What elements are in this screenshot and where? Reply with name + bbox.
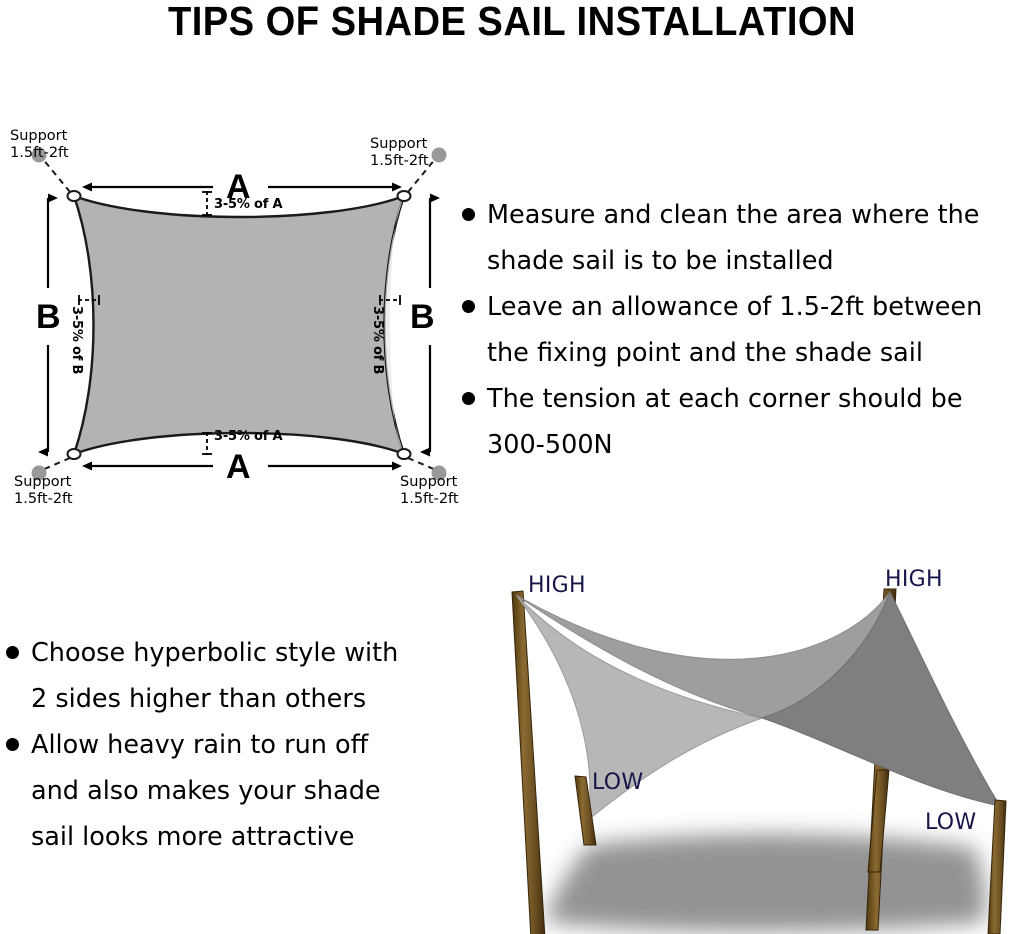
label-low-front-right: LOW xyxy=(925,810,976,835)
curve-note-left: 3-5% of B xyxy=(69,306,84,374)
bullet-spacer xyxy=(462,254,475,267)
support-label-bottom-left: Support 1.5ft-2ft xyxy=(14,474,73,508)
list-item-line: The tension at each corner should be xyxy=(487,376,1024,422)
support-label-top-left: Support 1.5ft-2ft xyxy=(10,128,69,162)
installation-tips-upper-list: Measure and clean the area where the sha… xyxy=(462,192,1024,468)
pole-front-right-low xyxy=(988,800,1006,934)
support-label-bottom-right: Support 1.5ft-2ft xyxy=(400,474,459,508)
list-item-line: shade sail is to be installed xyxy=(487,238,1024,284)
pole-back-left-high xyxy=(512,591,545,934)
list-item-line: 2 sides higher than others xyxy=(31,676,446,722)
list-item: Measure and clean the area where the xyxy=(462,192,1024,238)
list-item-line: sail looks more attractive xyxy=(31,814,446,860)
list-item-line: 300-500N xyxy=(487,422,1024,468)
dimension-label-a-bottom: A xyxy=(226,450,251,484)
sail-ridge-band xyxy=(516,592,890,718)
bullet-spacer xyxy=(462,346,475,359)
list-item: Leave an allowance of 1.5-2ft between xyxy=(462,284,1024,330)
bullet-dot-icon xyxy=(6,646,19,659)
list-item-line: Choose hyperbolic style with xyxy=(31,630,446,676)
bullet-dot-icon xyxy=(462,300,475,313)
list-item-continuation: and also makes your shade xyxy=(6,768,446,814)
list-item-line: the fixing point and the shade sail xyxy=(487,330,1024,376)
dimension-label-b-left: B xyxy=(36,300,61,334)
list-item-line: Measure and clean the area where the xyxy=(487,192,1024,238)
page-title: TIPS OF SHADE SAIL INSTALLATION xyxy=(36,0,988,45)
list-item-line: and also makes your shade xyxy=(31,768,446,814)
bullet-dot-icon xyxy=(462,208,475,221)
support-dot-top-right xyxy=(432,148,447,163)
bullet-spacer xyxy=(6,784,19,797)
list-item-line: Leave an allowance of 1.5-2ft between xyxy=(487,284,1024,330)
list-item: Choose hyperbolic style with xyxy=(6,630,446,676)
list-item-continuation: 300-500N xyxy=(462,422,1024,468)
list-item: Allow heavy rain to run off xyxy=(6,722,446,768)
bullet-dot-icon xyxy=(462,392,475,405)
bullet-spacer xyxy=(462,438,475,451)
installation-tips-lower-list: Choose hyperbolic style with 2 sides hig… xyxy=(6,630,446,860)
list-item-continuation: sail looks more attractive xyxy=(6,814,446,860)
list-item-line: Allow heavy rain to run off xyxy=(31,722,446,768)
sail-panel-right xyxy=(762,592,1000,806)
pole-mid-right xyxy=(868,770,889,872)
bullet-spacer xyxy=(6,830,19,843)
curve-note-bottom: 3-5% of A xyxy=(214,429,282,444)
list-item-continuation: 2 sides higher than others xyxy=(6,676,446,722)
list-item: The tension at each corner should be xyxy=(462,376,1024,422)
curve-note-right: 3-5% of B xyxy=(370,306,385,374)
support-label-top-right: Support 1.5ft-2ft xyxy=(370,136,429,170)
label-high-back-left: HIGH xyxy=(528,573,586,598)
ground-shadow xyxy=(545,834,986,932)
list-item-continuation: shade sail is to be installed xyxy=(462,238,1024,284)
label-low-front-left: LOW xyxy=(592,770,643,795)
label-high-back-right: HIGH xyxy=(885,567,943,592)
pole-back-right-high xyxy=(866,589,896,930)
curve-note-top: 3-5% of A xyxy=(214,197,282,212)
dimension-label-b-right: B xyxy=(410,300,435,334)
list-item-continuation: the fixing point and the shade sail xyxy=(462,330,1024,376)
bullet-dot-icon xyxy=(6,738,19,751)
bullet-spacer xyxy=(6,692,19,705)
infographic-page: TIPS OF SHADE SAIL INSTALLATION xyxy=(0,0,1024,934)
